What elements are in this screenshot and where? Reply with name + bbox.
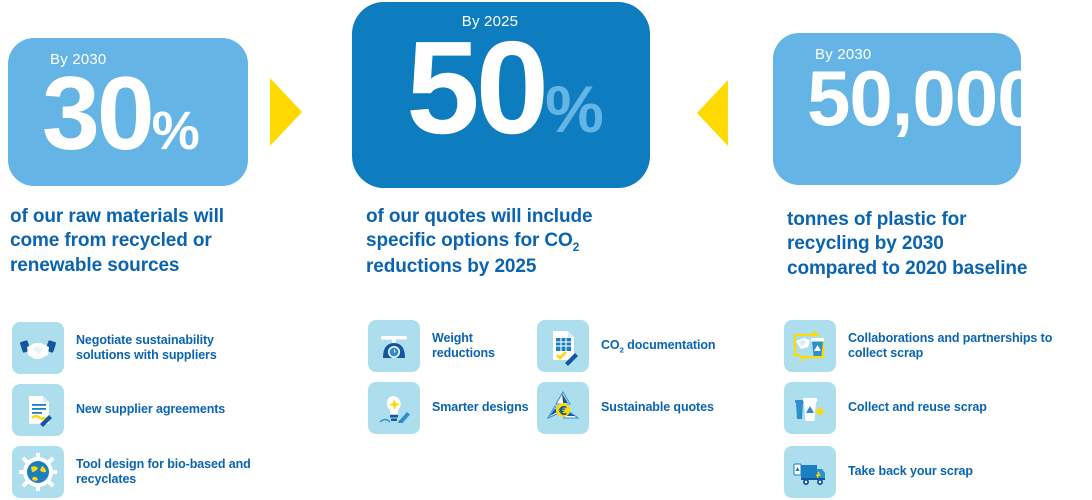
feature-item: New supplier agreements — [12, 384, 262, 436]
feature-item: Collect and reuse scrap — [784, 382, 1074, 434]
stat-unit: % — [545, 82, 604, 137]
lightbulb-pencil-icon — [368, 382, 420, 434]
stat-caption-raw-materials: of our raw materials will come from recy… — [10, 205, 278, 278]
stat-figure: 30 % — [38, 71, 228, 158]
caption-line: compared to 2020 baseline — [787, 257, 1087, 281]
caption-line: come from recycled or — [10, 229, 278, 253]
stat-card-plastic-recycling: By 2030 50,000 — [773, 33, 1021, 185]
arrow-left-icon — [697, 80, 728, 146]
svg-text:€: € — [558, 404, 567, 418]
handshake-icon — [12, 322, 64, 374]
feature-item: Negotiate sustainability solutions with … — [12, 322, 262, 374]
feature-label: Negotiate sustainability solutions with … — [76, 333, 262, 364]
feature-item: Take back your scrap — [784, 446, 1074, 498]
stat-number: 50,000 — [807, 66, 1040, 132]
stat-figure: 50 % — [380, 33, 630, 144]
caption-subscript: 2 — [573, 241, 579, 254]
feature-item: Smarter designs — [368, 382, 538, 434]
caption-line: of our raw materials will — [10, 205, 278, 229]
document-checklist-icon — [537, 320, 589, 372]
caption-line: reductions by 2025 — [366, 255, 656, 279]
feature-label: Sustainable quotes — [601, 400, 714, 415]
arrow-right-icon — [270, 78, 302, 146]
feature-label: Tool design for bio-based and recyclates — [76, 457, 262, 488]
stat-number: 50 — [406, 33, 545, 144]
feature-label: CO2 documentation — [601, 338, 715, 355]
globe-gear-icon — [12, 446, 64, 498]
feature-label: Weight reductions — [432, 331, 538, 362]
feature-label-suffix: documentation — [624, 338, 716, 352]
feature-label: Collect and reuse scrap — [848, 400, 987, 415]
feature-label: Take back your scrap — [848, 464, 973, 479]
feature-item: CO2 documentation — [537, 320, 737, 372]
feature-label: Smarter designs — [432, 400, 528, 415]
caption-line-text: specific options for CO — [366, 230, 573, 251]
truck-bin-icon — [784, 446, 836, 498]
stat-card-raw-materials: By 2030 30 % — [8, 38, 248, 186]
feature-label: New supplier agreements — [76, 402, 225, 417]
weighing-scale-icon — [368, 320, 420, 372]
stat-figure: 50,000 — [803, 66, 1001, 132]
document-signature-icon — [12, 384, 64, 436]
recycle-euro-icon: € — [537, 382, 589, 434]
infographic-canvas: By 2030 30 % By 2025 50 % By 2030 50,000… — [0, 0, 1092, 500]
caption-line: recycling by 2030 — [787, 232, 1087, 256]
stat-unit: % — [152, 109, 200, 154]
feature-item: € Sustainable quotes — [537, 382, 727, 434]
handshake-recycle-icon — [784, 320, 836, 372]
feature-label-prefix: CO — [601, 338, 620, 352]
stat-caption-quotes-co2: of our quotes will include specific opti… — [366, 205, 656, 280]
feature-item: Tool design for bio-based and recyclates — [12, 446, 262, 498]
feature-item: Collaborations and partnerships to colle… — [784, 320, 1084, 372]
caption-line: specific options for CO2 — [366, 229, 656, 255]
caption-line: renewable sources — [10, 254, 278, 278]
feature-label: Collaborations and partnerships to colle… — [848, 331, 1084, 362]
stat-card-quotes-co2: By 2025 50 % — [352, 2, 650, 188]
caption-line: tonnes of plastic for — [787, 208, 1087, 232]
stat-number: 30 — [42, 71, 152, 158]
stat-caption-plastic-recycling: tonnes of plastic for recycling by 2030 … — [787, 208, 1087, 281]
caption-line: of our quotes will include — [366, 205, 656, 229]
feature-item: Weight reductions — [368, 320, 538, 372]
recycle-bins-icon — [784, 382, 836, 434]
